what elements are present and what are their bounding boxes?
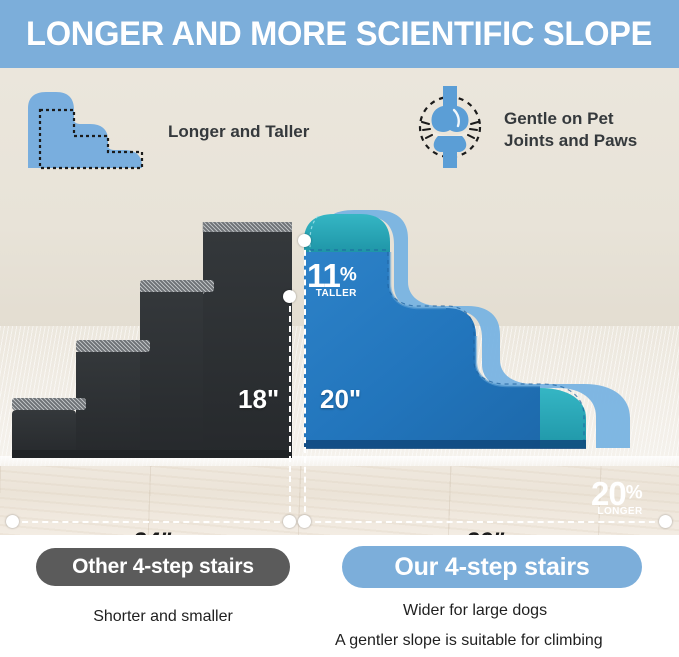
other-stairs-product — [0, 222, 292, 458]
header-banner: LONGER AND MORE SCIENTIFIC SLOPE — [0, 0, 679, 68]
ours-length-label: 29" — [466, 528, 504, 535]
comparison-footer: Other 4-step stairs Our 4-step stairs Sh… — [0, 535, 679, 657]
feature-gentle-joints: Gentle on Pet Joints and Paws — [410, 84, 637, 175]
other-length-label: 24" — [133, 528, 171, 535]
other-product-caption: Shorter and smaller — [67, 608, 259, 626]
our-stairs-body — [304, 252, 540, 448]
our-product-caption-line2: A gentler slope is suitable for climbing — [335, 632, 603, 650]
our-product-caption-line1: Wider for large dogs — [403, 602, 547, 620]
feature-longer-taller: Longer and Taller — [18, 86, 309, 177]
ours-length-dimension-line — [305, 521, 665, 523]
ours-height-label: 20" — [320, 384, 361, 415]
product-comparison-scene: Longer and Taller — [0, 68, 679, 535]
dimension-dot-ours-top — [298, 234, 311, 247]
other-height-dimension-line — [289, 296, 291, 522]
page-title: LONGER AND MORE SCIENTIFIC SLOPE — [26, 15, 652, 54]
infographic-root: LONGER AND MORE SCIENTIFIC SLOPE — [0, 0, 679, 657]
pet-joint-icon — [410, 84, 490, 175]
dimension-dot-ours-left — [298, 515, 311, 528]
our-product-pill: Our 4-step stairs — [342, 546, 642, 588]
other-length-dimension-line — [12, 521, 290, 523]
other-stairs-svg — [0, 222, 292, 458]
other-product-pill: Other 4-step stairs — [36, 548, 290, 586]
stairs-outline-icon — [18, 86, 154, 177]
dimension-dot-other-left — [6, 515, 19, 528]
longer-highlight-region — [540, 388, 586, 448]
dimension-dot-other-right — [283, 515, 296, 528]
dimension-dot-ours-right — [659, 515, 672, 528]
taller-highlight-region — [304, 214, 390, 252]
feature-longer-taller-label: Longer and Taller — [168, 121, 309, 143]
feature-gentle-joints-label: Gentle on Pet Joints and Paws — [504, 108, 637, 152]
other-height-label: 18" — [238, 384, 279, 415]
ours-height-dimension-line — [304, 240, 306, 522]
background-floor — [0, 466, 679, 535]
dimension-dot-other-top — [283, 290, 296, 303]
